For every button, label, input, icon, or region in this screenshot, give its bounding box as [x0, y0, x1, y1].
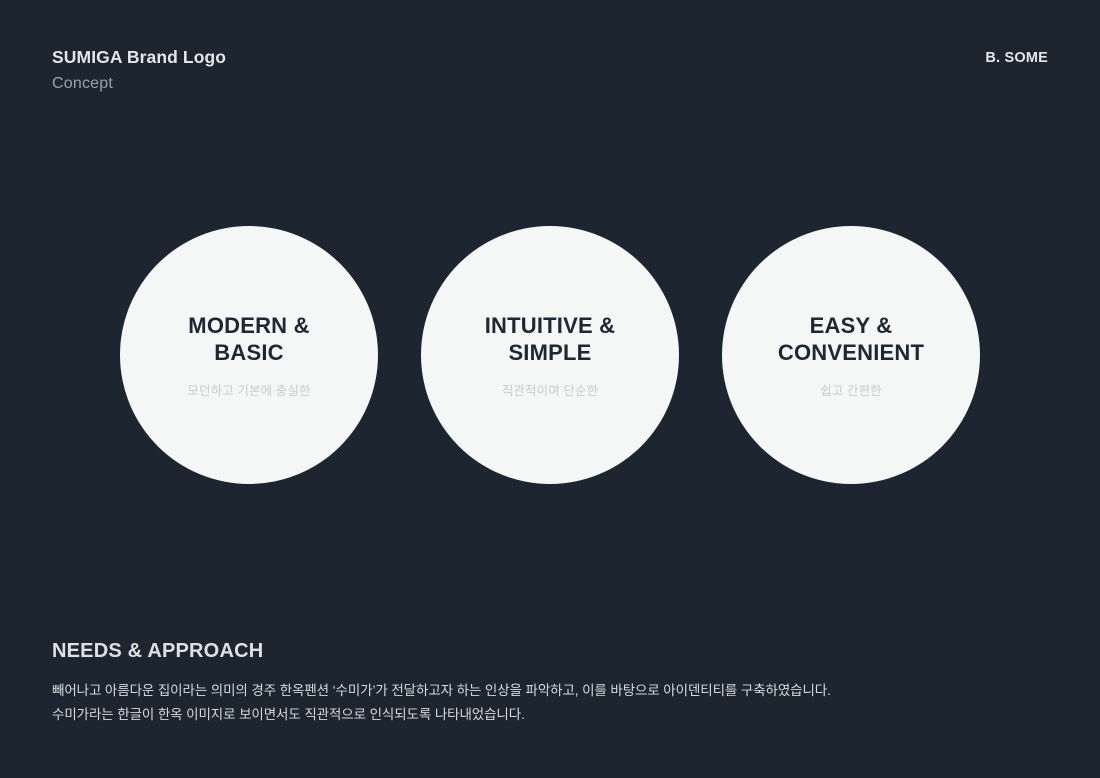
needs-approach-section: NEEDS & APPROACH 빼어나고 아름다운 집이라는 의미의 경주 한… — [52, 638, 1048, 727]
header-title-group: SUMIGA Brand Logo Concept — [52, 46, 226, 94]
concept-subtitle: 직관적이며 단순한 — [440, 383, 660, 399]
page-subtitle: Concept — [52, 74, 226, 94]
presentation-slide: SUMIGA Brand Logo Concept B. SOME MODERN… — [0, 0, 1100, 778]
page-title: SUMIGA Brand Logo — [52, 46, 226, 68]
client-tag: B. SOME — [985, 50, 1048, 66]
concept-title: EASY & CONVENIENT — [746, 312, 956, 366]
concept-subtitle: 모던하고 기본에 충실한 — [139, 383, 359, 399]
concept-title: MODERN & BASIC — [144, 312, 354, 366]
concept-subtitle: 쉽고 간편한 — [741, 383, 961, 399]
concept-circle-easy-convenient: EASY & CONVENIENT 쉽고 간편한 — [722, 226, 980, 484]
concept-circle-modern-basic: MODERN & BASIC 모던하고 기본에 충실한 — [120, 226, 378, 484]
section-body: 빼어나고 아름다운 집이라는 의미의 경주 한옥펜션 ‘수미가’가 전달하고자 … — [52, 679, 1048, 727]
concept-circle-row: MODERN & BASIC 모던하고 기본에 충실한 INTUITIVE & … — [0, 226, 1100, 486]
section-heading: NEEDS & APPROACH — [52, 638, 1048, 664]
concept-circle-intuitive-simple: INTUITIVE & SIMPLE 직관적이며 단순한 — [421, 226, 679, 484]
body-paragraph-line: 수미가라는 한글이 한옥 이미지로 보이면서도 직관적으로 인식되도록 나타내었… — [52, 703, 1048, 727]
concept-title: INTUITIVE & SIMPLE — [445, 312, 655, 366]
slide-header: SUMIGA Brand Logo Concept B. SOME — [52, 46, 1048, 106]
body-paragraph-line: 빼어나고 아름다운 집이라는 의미의 경주 한옥펜션 ‘수미가’가 전달하고자 … — [52, 679, 1048, 703]
